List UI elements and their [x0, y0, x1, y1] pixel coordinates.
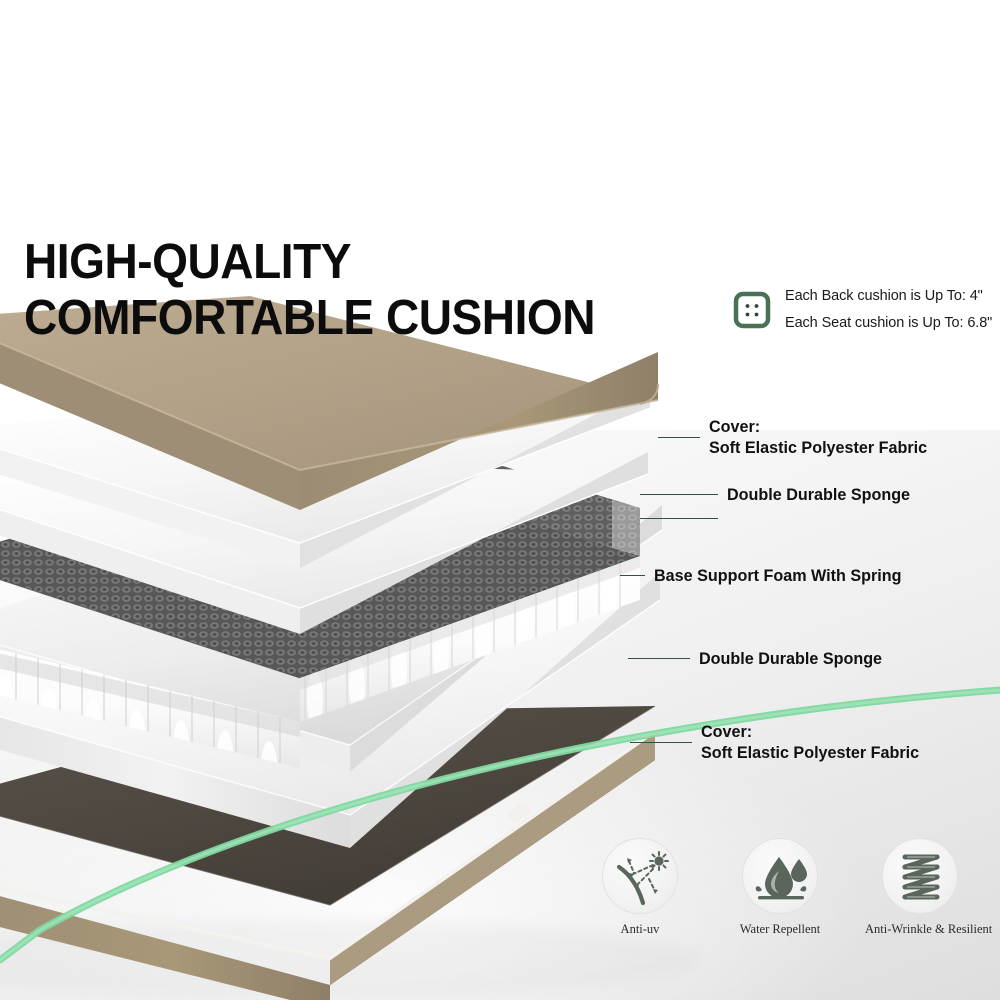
callout-sponge-bottom-line-1: Double Durable Sponge: [699, 648, 882, 669]
callout-cover-top-line-2: Soft Elastic Polyester Fabric: [709, 437, 927, 458]
callout-cover-bottom: Cover: Soft Elastic Polyester Fabric: [630, 721, 931, 763]
feature-anti-uv-label: Anti-uv: [585, 922, 695, 937]
water-drop-icon: [742, 838, 818, 914]
spec-line-list: Each Back cushion is Up To: 4" Each Seat…: [785, 288, 992, 331]
leader-line-cover-bottom: [630, 742, 692, 743]
cushion-thickness-spec: Each Back cushion is Up To: 4" Each Seat…: [733, 288, 992, 331]
title-line-2: COMFORTABLE CUSHION: [24, 294, 595, 343]
callout-cover-bottom-line-1: Cover:: [701, 721, 919, 742]
feature-badge-row: Anti-uv Water Repellent: [585, 838, 1000, 958]
spec-line-seat-cushion: Each Seat cushion is Up To: 6.8": [785, 315, 992, 331]
callout-sponge-top: Double Durable Sponge: [640, 484, 920, 505]
infographic-canvas: HIGH-QUALITY COMFORTABLE CUSHION Each Ba…: [0, 0, 1000, 1000]
callout-spring-base: Base Support Foam With Spring: [620, 565, 915, 586]
feature-anti-uv: Anti-uv: [585, 838, 695, 937]
cushion-icon: [733, 291, 771, 329]
feature-anti-wrinkle-label: Anti-Wrinkle & Resilient: [865, 922, 975, 937]
callout-cover-top-line-1: Cover:: [709, 416, 927, 437]
coil-spring-icon: [882, 838, 958, 914]
feature-water-repellent: Water Repellent: [725, 838, 835, 937]
leader-stub-sponge-upper: [640, 518, 718, 519]
callout-cover-bottom-line-2: Soft Elastic Polyester Fabric: [701, 742, 919, 763]
callout-sponge-top-line-1: Double Durable Sponge: [727, 484, 910, 505]
title-line-1: HIGH-QUALITY: [24, 238, 595, 287]
sun-deflect-icon: [602, 838, 678, 914]
leader-line-sponge-top: [640, 494, 718, 495]
spec-line-back-cushion: Each Back cushion is Up To: 4": [785, 288, 992, 304]
callout-sponge-bottom: Double Durable Sponge: [628, 648, 892, 669]
leader-line-sponge-bottom: [628, 658, 690, 659]
feature-anti-wrinkle: Anti-Wrinkle & Resilient: [865, 838, 975, 937]
feature-water-repellent-label: Water Repellent: [725, 922, 835, 937]
leader-line-cover-top: [658, 437, 700, 438]
callout-cover-top: Cover: Soft Elastic Polyester Fabric: [658, 416, 939, 458]
leader-line-spring-base: [620, 575, 645, 576]
page-title: HIGH-QUALITY COMFORTABLE CUSHION: [24, 238, 632, 343]
callout-spring-base-line-1: Base Support Foam With Spring: [654, 565, 902, 586]
leader-line-stub-1: [640, 518, 718, 519]
